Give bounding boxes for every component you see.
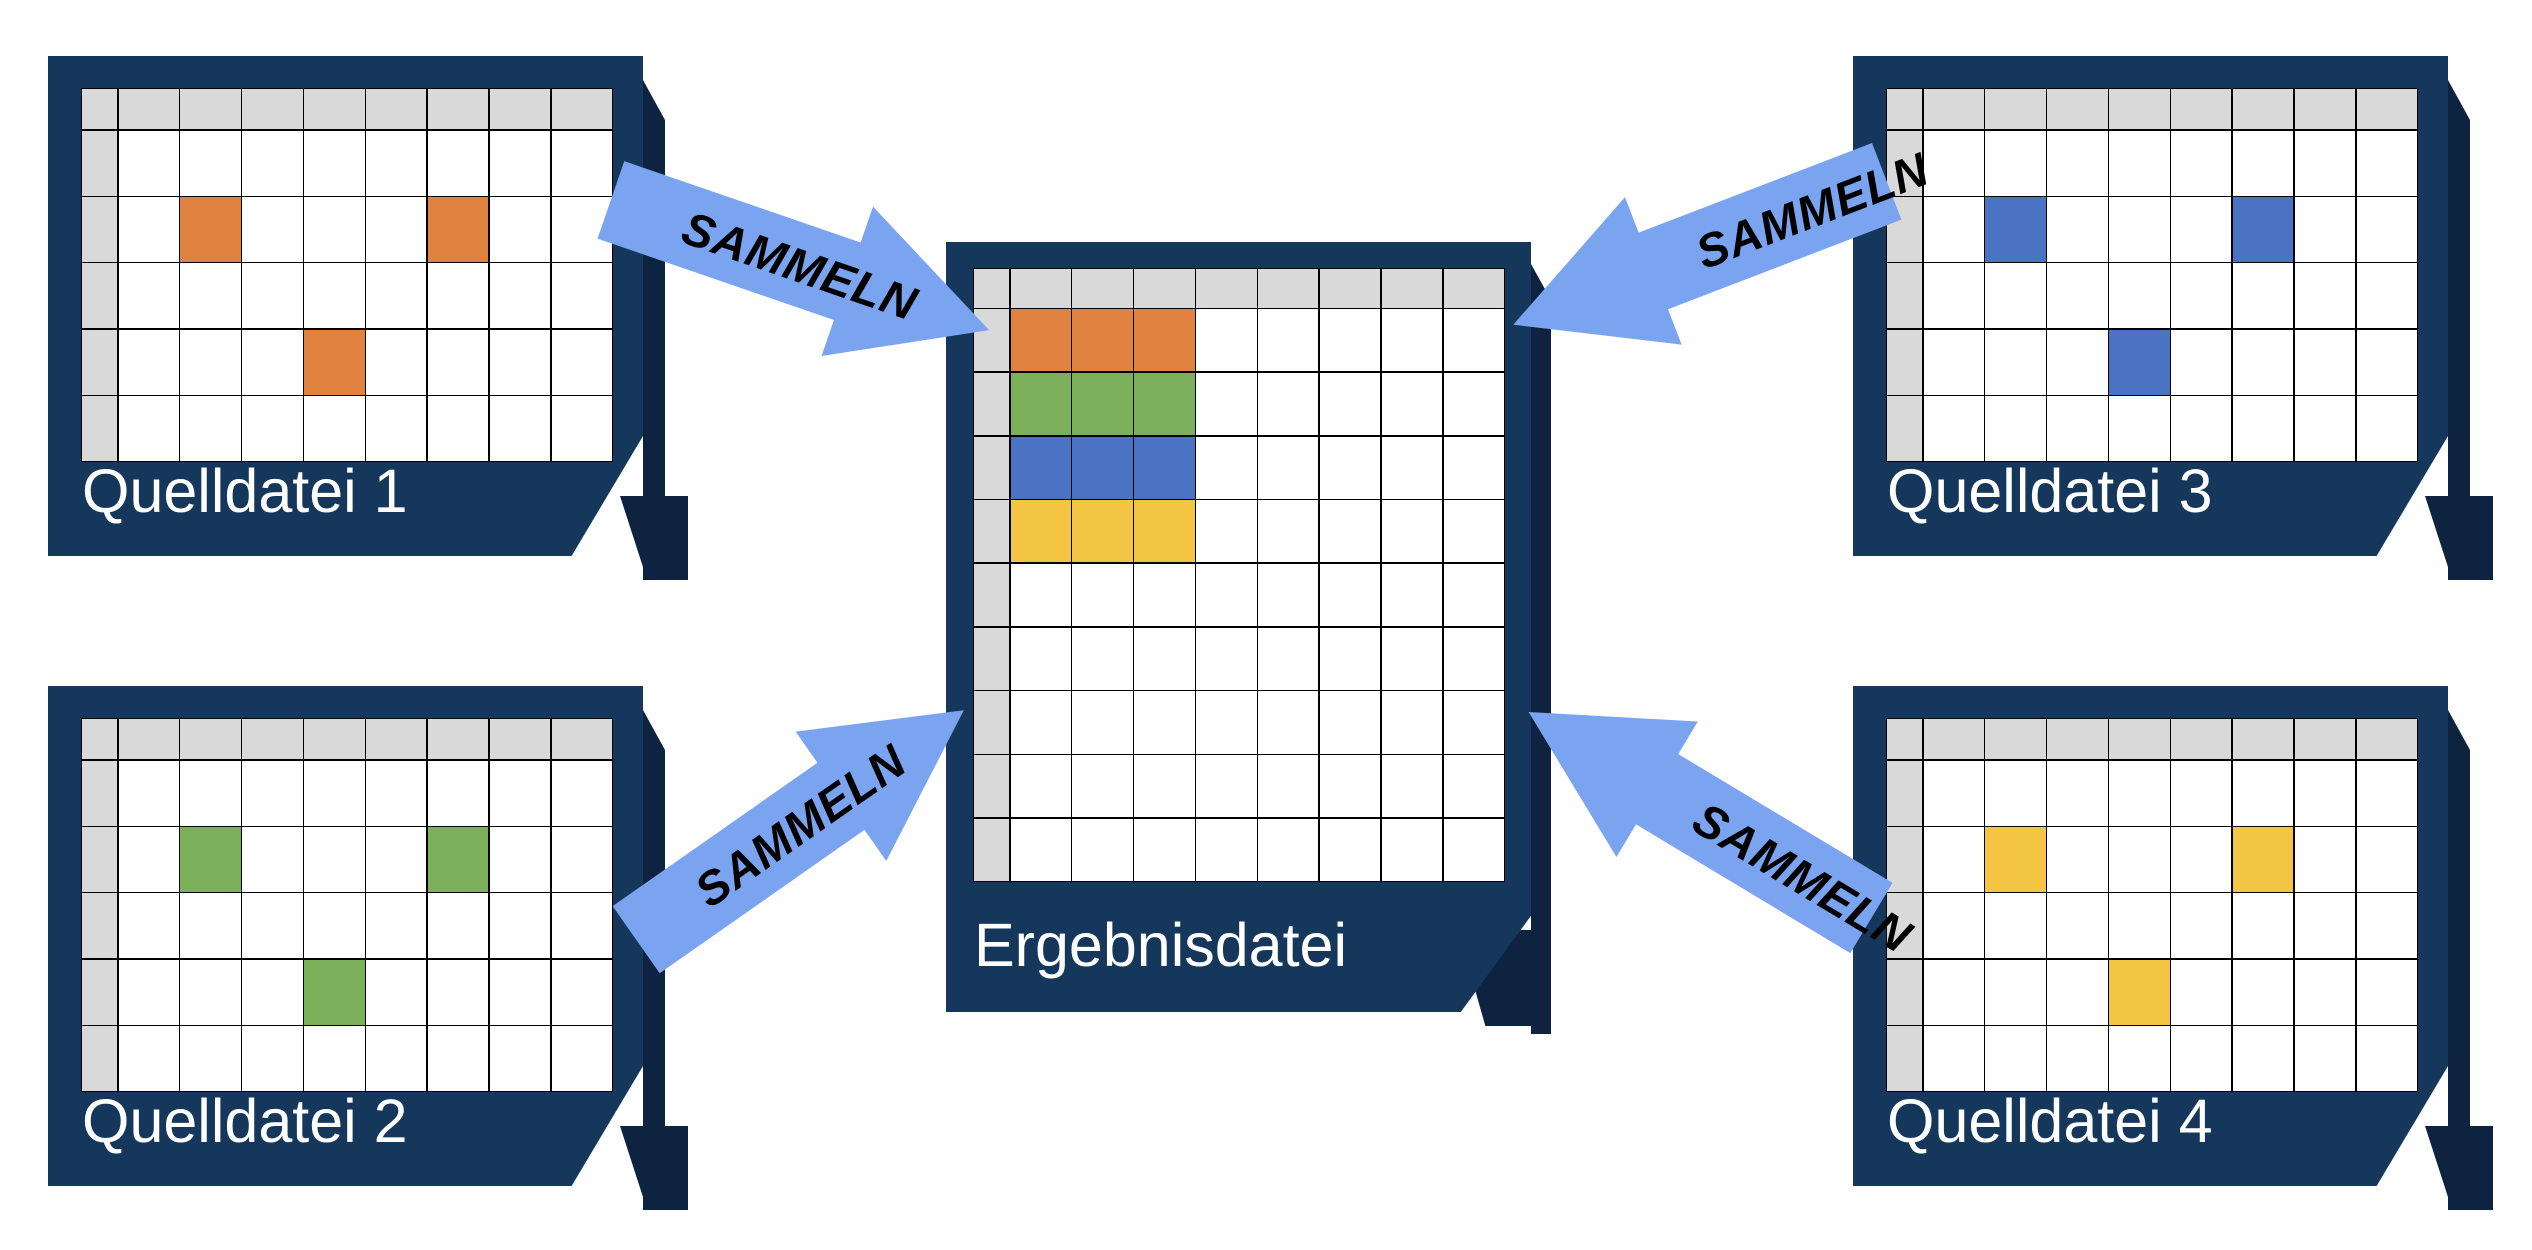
grid-cell[interactable] xyxy=(1258,309,1318,371)
grid-header-cell[interactable] xyxy=(974,500,1009,562)
grid-cell[interactable] xyxy=(119,1026,179,1091)
grid-cell[interactable] xyxy=(2171,893,2231,958)
grid-header-cell[interactable] xyxy=(490,89,550,129)
grid-cell[interactable] xyxy=(242,827,302,892)
grid-header-cell[interactable] xyxy=(304,89,364,129)
grid-cell[interactable] xyxy=(304,330,364,395)
grid-cell[interactable] xyxy=(1258,437,1318,499)
grid-cell[interactable] xyxy=(1924,131,1984,196)
grid-cell[interactable] xyxy=(1196,564,1256,626)
grid-cell[interactable] xyxy=(2109,893,2169,958)
grid-cell[interactable] xyxy=(2047,131,2107,196)
grid-cell[interactable] xyxy=(552,330,612,395)
grid-cell[interactable] xyxy=(1924,1026,1984,1091)
grid-header-cell[interactable] xyxy=(1072,269,1132,308)
grid-cell[interactable] xyxy=(2295,396,2355,461)
grid-cell[interactable] xyxy=(304,827,364,892)
grid-header-cell[interactable] xyxy=(82,761,117,826)
source-grid-table-3[interactable] xyxy=(1886,88,2418,462)
grid-cell[interactable] xyxy=(1134,819,1194,881)
grid-cell[interactable] xyxy=(304,197,364,262)
grid-cell[interactable] xyxy=(428,827,488,892)
grid-cell[interactable] xyxy=(2233,263,2293,328)
grid-cell[interactable] xyxy=(242,893,302,958)
grid-cell[interactable] xyxy=(2171,960,2231,1025)
grid-cell[interactable] xyxy=(1320,373,1380,435)
grid-cell[interactable] xyxy=(2357,960,2417,1025)
grid-cell[interactable] xyxy=(2233,827,2293,892)
grid-cell[interactable] xyxy=(1196,500,1256,562)
grid-cell[interactable] xyxy=(1444,819,1504,881)
grid-cell[interactable] xyxy=(2047,1026,2107,1091)
grid-cell[interactable] xyxy=(1196,819,1256,881)
grid-cell[interactable] xyxy=(2047,263,2107,328)
grid-cell[interactable] xyxy=(1382,564,1442,626)
grid-cell[interactable] xyxy=(428,761,488,826)
grid-cell[interactable] xyxy=(1011,437,1071,499)
grid-cell[interactable] xyxy=(180,330,240,395)
grid-cell[interactable] xyxy=(1924,761,1984,826)
grid-cell[interactable] xyxy=(1924,893,1984,958)
grid-cell[interactable] xyxy=(552,131,612,196)
grid-header-cell[interactable] xyxy=(974,373,1009,435)
grid-cell[interactable] xyxy=(119,330,179,395)
grid-cell[interactable] xyxy=(1985,960,2045,1025)
grid-cell[interactable] xyxy=(2233,197,2293,262)
grid-cell[interactable] xyxy=(2295,131,2355,196)
grid-header-cell[interactable] xyxy=(82,197,117,262)
grid-cell[interactable] xyxy=(428,1026,488,1091)
grid-cell[interactable] xyxy=(119,131,179,196)
grid-cell[interactable] xyxy=(490,263,550,328)
grid-cell[interactable] xyxy=(2047,761,2107,826)
grid-cell[interactable] xyxy=(1985,330,2045,395)
grid-cell[interactable] xyxy=(1382,437,1442,499)
grid-header-cell[interactable] xyxy=(1887,89,1922,129)
grid-cell[interactable] xyxy=(1444,437,1504,499)
grid-cell[interactable] xyxy=(1134,628,1194,690)
grid-cell[interactable] xyxy=(490,197,550,262)
grid-cell[interactable] xyxy=(1320,564,1380,626)
grid-cell[interactable] xyxy=(2171,197,2231,262)
grid-cell[interactable] xyxy=(1444,564,1504,626)
grid-cell[interactable] xyxy=(428,960,488,1025)
grid-cell[interactable] xyxy=(1444,628,1504,690)
grid-header-cell[interactable] xyxy=(974,564,1009,626)
grid-header-cell[interactable] xyxy=(2047,719,2107,759)
grid-header-cell[interactable] xyxy=(304,719,364,759)
grid-cell[interactable] xyxy=(552,396,612,461)
grid-header-cell[interactable] xyxy=(428,719,488,759)
grid-cell[interactable] xyxy=(180,197,240,262)
grid-header-cell[interactable] xyxy=(1985,719,2045,759)
grid-header-cell[interactable] xyxy=(1887,330,1922,395)
grid-header-cell[interactable] xyxy=(1382,269,1442,308)
grid-cell[interactable] xyxy=(1320,691,1380,753)
grid-cell[interactable] xyxy=(1924,197,1984,262)
grid-cell[interactable] xyxy=(242,1026,302,1091)
grid-header-cell[interactable] xyxy=(2047,89,2107,129)
grid-header-cell[interactable] xyxy=(1887,719,1922,759)
grid-cell[interactable] xyxy=(1134,564,1194,626)
grid-header-cell[interactable] xyxy=(82,396,117,461)
grid-header-cell[interactable] xyxy=(2295,719,2355,759)
grid-cell[interactable] xyxy=(2357,827,2417,892)
grid-cell[interactable] xyxy=(1320,309,1380,371)
grid-cell[interactable] xyxy=(2357,1026,2417,1091)
grid-header-cell[interactable] xyxy=(552,719,612,759)
grid-cell[interactable] xyxy=(1985,263,2045,328)
grid-cell[interactable] xyxy=(1985,1026,2045,1091)
grid-cell[interactable] xyxy=(1382,691,1442,753)
grid-cell[interactable] xyxy=(1011,500,1071,562)
grid-header-cell[interactable] xyxy=(180,719,240,759)
grid-header-cell[interactable] xyxy=(1887,396,1922,461)
source-grid-4[interactable] xyxy=(1886,718,2416,1090)
grid-cell[interactable] xyxy=(242,761,302,826)
grid-cell[interactable] xyxy=(242,197,302,262)
grid-cell[interactable] xyxy=(366,893,426,958)
grid-header-cell[interactable] xyxy=(366,89,426,129)
grid-header-cell[interactable] xyxy=(2233,719,2293,759)
grid-header-cell[interactable] xyxy=(1887,1026,1922,1091)
grid-cell[interactable] xyxy=(242,330,302,395)
grid-cell[interactable] xyxy=(1382,500,1442,562)
grid-cell[interactable] xyxy=(1134,755,1194,817)
grid-header-cell[interactable] xyxy=(1924,719,1984,759)
source-grid-table-2[interactable] xyxy=(81,718,613,1092)
grid-cell[interactable] xyxy=(1072,309,1132,371)
grid-cell[interactable] xyxy=(119,197,179,262)
grid-cell[interactable] xyxy=(1196,309,1256,371)
grid-cell[interactable] xyxy=(428,197,488,262)
grid-cell[interactable] xyxy=(552,960,612,1025)
grid-header-cell[interactable] xyxy=(2109,89,2169,129)
grid-cell[interactable] xyxy=(304,893,364,958)
grid-cell[interactable] xyxy=(1196,755,1256,817)
grid-cell[interactable] xyxy=(490,960,550,1025)
grid-header-cell[interactable] xyxy=(1887,263,1922,328)
grid-cell[interactable] xyxy=(1011,755,1071,817)
grid-cell[interactable] xyxy=(1320,500,1380,562)
grid-cell[interactable] xyxy=(428,893,488,958)
grid-header-cell[interactable] xyxy=(1320,269,1380,308)
grid-cell[interactable] xyxy=(366,396,426,461)
grid-cell[interactable] xyxy=(2233,396,2293,461)
grid-cell[interactable] xyxy=(366,131,426,196)
grid-header-cell[interactable] xyxy=(242,89,302,129)
grid-cell[interactable] xyxy=(180,396,240,461)
grid-cell[interactable] xyxy=(2233,960,2293,1025)
grid-cell[interactable] xyxy=(1985,131,2045,196)
grid-header-cell[interactable] xyxy=(1887,893,1922,958)
grid-cell[interactable] xyxy=(2357,197,2417,262)
grid-cell[interactable] xyxy=(2233,1026,2293,1091)
grid-cell[interactable] xyxy=(304,761,364,826)
grid-cell[interactable] xyxy=(490,1026,550,1091)
grid-cell[interactable] xyxy=(1196,691,1256,753)
grid-header-cell[interactable] xyxy=(82,719,117,759)
grid-cell[interactable] xyxy=(1072,437,1132,499)
result-grid[interactable] xyxy=(973,268,1503,880)
grid-cell[interactable] xyxy=(366,827,426,892)
grid-cell[interactable] xyxy=(1985,761,2045,826)
grid-header-cell[interactable] xyxy=(428,89,488,129)
grid-cell[interactable] xyxy=(490,761,550,826)
grid-cell[interactable] xyxy=(1134,437,1194,499)
grid-cell[interactable] xyxy=(2295,197,2355,262)
grid-cell[interactable] xyxy=(2357,263,2417,328)
grid-cell[interactable] xyxy=(1258,373,1318,435)
grid-cell[interactable] xyxy=(2171,396,2231,461)
grid-header-cell[interactable] xyxy=(1887,131,1922,196)
grid-header-cell[interactable] xyxy=(82,960,117,1025)
source-file-card-3[interactable]: Quelldatei 3 xyxy=(1853,56,2448,556)
grid-cell[interactable] xyxy=(2171,131,2231,196)
grid-cell[interactable] xyxy=(1011,691,1071,753)
grid-cell[interactable] xyxy=(2357,893,2417,958)
grid-cell[interactable] xyxy=(1072,500,1132,562)
grid-header-cell[interactable] xyxy=(119,719,179,759)
grid-cell[interactable] xyxy=(1382,628,1442,690)
grid-header-cell[interactable] xyxy=(1134,269,1194,308)
grid-cell[interactable] xyxy=(490,330,550,395)
grid-cell[interactable] xyxy=(119,827,179,892)
grid-cell[interactable] xyxy=(2233,131,2293,196)
grid-header-cell[interactable] xyxy=(974,819,1009,881)
source-grid-table-1[interactable] xyxy=(81,88,613,462)
grid-header-cell[interactable] xyxy=(1196,269,1256,308)
grid-cell[interactable] xyxy=(490,131,550,196)
grid-cell[interactable] xyxy=(2109,396,2169,461)
source-file-card-1[interactable]: Quelldatei 1 xyxy=(48,56,643,556)
grid-header-cell[interactable] xyxy=(82,89,117,129)
grid-cell[interactable] xyxy=(1011,628,1071,690)
grid-cell[interactable] xyxy=(2047,197,2107,262)
grid-cell[interactable] xyxy=(304,263,364,328)
grid-header-cell[interactable] xyxy=(180,89,240,129)
grid-cell[interactable] xyxy=(2171,330,2231,395)
grid-cell[interactable] xyxy=(490,893,550,958)
grid-cell[interactable] xyxy=(428,263,488,328)
grid-cell[interactable] xyxy=(1320,437,1380,499)
grid-cell[interactable] xyxy=(304,960,364,1025)
grid-cell[interactable] xyxy=(1011,819,1071,881)
grid-cell[interactable] xyxy=(2109,263,2169,328)
grid-header-cell[interactable] xyxy=(1887,960,1922,1025)
grid-cell[interactable] xyxy=(2109,960,2169,1025)
grid-cell[interactable] xyxy=(180,761,240,826)
grid-cell[interactable] xyxy=(180,893,240,958)
grid-cell[interactable] xyxy=(552,893,612,958)
result-grid-table[interactable] xyxy=(973,268,1505,882)
grid-cell[interactable] xyxy=(1382,309,1442,371)
grid-cell[interactable] xyxy=(2295,1026,2355,1091)
grid-cell[interactable] xyxy=(1382,373,1442,435)
grid-cell[interactable] xyxy=(1258,628,1318,690)
grid-header-cell[interactable] xyxy=(82,263,117,328)
source-grid-3[interactable] xyxy=(1886,88,2416,460)
grid-cell[interactable] xyxy=(1011,373,1071,435)
grid-header-cell[interactable] xyxy=(1887,761,1922,826)
source-file-card-4[interactable]: Quelldatei 4 xyxy=(1853,686,2448,1186)
grid-cell[interactable] xyxy=(1985,396,2045,461)
grid-cell[interactable] xyxy=(119,960,179,1025)
grid-cell[interactable] xyxy=(119,893,179,958)
grid-cell[interactable] xyxy=(2047,396,2107,461)
grid-cell[interactable] xyxy=(2233,893,2293,958)
grid-header-cell[interactable] xyxy=(82,1026,117,1091)
grid-cell[interactable] xyxy=(366,960,426,1025)
grid-cell[interactable] xyxy=(242,131,302,196)
grid-cell[interactable] xyxy=(2109,197,2169,262)
grid-cell[interactable] xyxy=(1924,827,1984,892)
grid-cell[interactable] xyxy=(366,330,426,395)
grid-cell[interactable] xyxy=(2233,330,2293,395)
grid-header-cell[interactable] xyxy=(1924,89,1984,129)
grid-header-cell[interactable] xyxy=(82,893,117,958)
grid-cell[interactable] xyxy=(2109,761,2169,826)
grid-cell[interactable] xyxy=(2047,330,2107,395)
grid-cell[interactable] xyxy=(552,761,612,826)
grid-cell[interactable] xyxy=(428,396,488,461)
grid-cell[interactable] xyxy=(2171,1026,2231,1091)
grid-header-cell[interactable] xyxy=(2171,89,2231,129)
grid-cell[interactable] xyxy=(366,197,426,262)
grid-header-cell[interactable] xyxy=(82,330,117,395)
grid-cell[interactable] xyxy=(2295,893,2355,958)
grid-header-cell[interactable] xyxy=(490,719,550,759)
grid-header-cell[interactable] xyxy=(366,719,426,759)
grid-cell[interactable] xyxy=(180,131,240,196)
grid-cell[interactable] xyxy=(2295,263,2355,328)
grid-cell[interactable] xyxy=(490,827,550,892)
grid-cell[interactable] xyxy=(2171,263,2231,328)
grid-cell[interactable] xyxy=(1072,628,1132,690)
grid-cell[interactable] xyxy=(2171,827,2231,892)
grid-header-cell[interactable] xyxy=(2295,89,2355,129)
grid-cell[interactable] xyxy=(119,396,179,461)
grid-cell[interactable] xyxy=(180,827,240,892)
grid-cell[interactable] xyxy=(1985,197,2045,262)
grid-header-cell[interactable] xyxy=(2357,719,2417,759)
grid-cell[interactable] xyxy=(2233,761,2293,826)
grid-cell[interactable] xyxy=(2295,960,2355,1025)
grid-header-cell[interactable] xyxy=(2357,89,2417,129)
grid-cell[interactable] xyxy=(2295,827,2355,892)
grid-cell[interactable] xyxy=(1444,373,1504,435)
grid-cell[interactable] xyxy=(552,1026,612,1091)
grid-cell[interactable] xyxy=(1382,755,1442,817)
grid-cell[interactable] xyxy=(1134,309,1194,371)
grid-cell[interactable] xyxy=(119,761,179,826)
grid-cell[interactable] xyxy=(1985,827,2045,892)
grid-cell[interactable] xyxy=(1011,309,1071,371)
grid-cell[interactable] xyxy=(2047,960,2107,1025)
grid-header-cell[interactable] xyxy=(1011,269,1071,308)
source-file-card-2[interactable]: Quelldatei 2 xyxy=(48,686,643,1186)
grid-cell[interactable] xyxy=(1985,893,2045,958)
grid-header-cell[interactable] xyxy=(2171,719,2231,759)
grid-header-cell[interactable] xyxy=(1258,269,1318,308)
grid-cell[interactable] xyxy=(1196,373,1256,435)
grid-cell[interactable] xyxy=(1320,628,1380,690)
grid-cell[interactable] xyxy=(1196,437,1256,499)
source-grid-1[interactable] xyxy=(81,88,611,460)
grid-cell[interactable] xyxy=(2109,1026,2169,1091)
grid-cell[interactable] xyxy=(1134,500,1194,562)
grid-cell[interactable] xyxy=(304,396,364,461)
grid-cell[interactable] xyxy=(2357,131,2417,196)
grid-cell[interactable] xyxy=(1924,960,1984,1025)
grid-cell[interactable] xyxy=(180,263,240,328)
grid-cell[interactable] xyxy=(1258,819,1318,881)
grid-cell[interactable] xyxy=(180,1026,240,1091)
grid-cell[interactable] xyxy=(1258,500,1318,562)
grid-header-cell[interactable] xyxy=(82,131,117,196)
grid-header-cell[interactable] xyxy=(974,628,1009,690)
grid-cell[interactable] xyxy=(2109,330,2169,395)
grid-cell[interactable] xyxy=(1924,330,1984,395)
grid-cell[interactable] xyxy=(2047,827,2107,892)
grid-cell[interactable] xyxy=(1320,755,1380,817)
grid-cell[interactable] xyxy=(304,131,364,196)
grid-cell[interactable] xyxy=(1134,373,1194,435)
grid-cell[interactable] xyxy=(1134,691,1194,753)
grid-cell[interactable] xyxy=(490,396,550,461)
source-grid-table-4[interactable] xyxy=(1886,718,2418,1092)
grid-cell[interactable] xyxy=(1072,819,1132,881)
grid-header-cell[interactable] xyxy=(974,437,1009,499)
grid-cell[interactable] xyxy=(1258,755,1318,817)
grid-header-cell[interactable] xyxy=(1985,89,2045,129)
grid-header-cell[interactable] xyxy=(2233,89,2293,129)
grid-cell[interactable] xyxy=(2295,330,2355,395)
grid-cell[interactable] xyxy=(1444,500,1504,562)
grid-cell[interactable] xyxy=(428,330,488,395)
grid-cell[interactable] xyxy=(2357,330,2417,395)
grid-cell[interactable] xyxy=(1320,819,1380,881)
grid-cell[interactable] xyxy=(1072,564,1132,626)
source-grid-2[interactable] xyxy=(81,718,611,1090)
grid-cell[interactable] xyxy=(1444,309,1504,371)
grid-cell[interactable] xyxy=(2357,396,2417,461)
grid-cell[interactable] xyxy=(428,131,488,196)
grid-cell[interactable] xyxy=(242,263,302,328)
grid-header-cell[interactable] xyxy=(552,89,612,129)
grid-cell[interactable] xyxy=(1258,691,1318,753)
grid-cell[interactable] xyxy=(304,1026,364,1091)
grid-cell[interactable] xyxy=(2109,131,2169,196)
grid-cell[interactable] xyxy=(2171,761,2231,826)
grid-cell[interactable] xyxy=(1011,564,1071,626)
grid-cell[interactable] xyxy=(366,1026,426,1091)
grid-cell[interactable] xyxy=(366,761,426,826)
grid-header-cell[interactable] xyxy=(119,89,179,129)
grid-cell[interactable] xyxy=(1196,628,1256,690)
grid-cell[interactable] xyxy=(2295,761,2355,826)
grid-cell[interactable] xyxy=(1924,263,1984,328)
grid-cell[interactable] xyxy=(2109,827,2169,892)
grid-cell[interactable] xyxy=(1382,819,1442,881)
grid-cell[interactable] xyxy=(1072,373,1132,435)
grid-cell[interactable] xyxy=(180,960,240,1025)
grid-cell[interactable] xyxy=(2357,761,2417,826)
grid-cell[interactable] xyxy=(1444,691,1504,753)
grid-cell[interactable] xyxy=(119,263,179,328)
grid-cell[interactable] xyxy=(242,396,302,461)
grid-header-cell[interactable] xyxy=(242,719,302,759)
